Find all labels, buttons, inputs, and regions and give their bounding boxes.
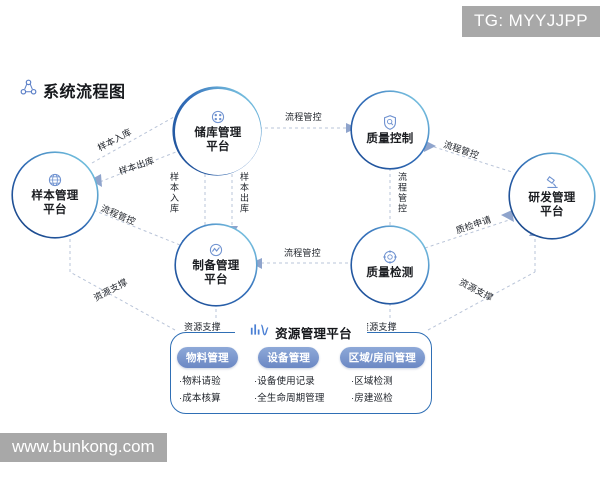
page-title-text: 系统流程图	[43, 78, 126, 102]
page-title: 系统流程图	[20, 78, 126, 102]
pill-equipment-management[interactable]: 设备管理	[258, 347, 319, 368]
node-preparation-management[interactable]: 制备管理平台	[176, 225, 256, 305]
microscope-icon	[544, 173, 561, 190]
list-item: ·区域检测	[351, 373, 423, 387]
edge-label-qtest-to-prep: 流程管控	[284, 246, 321, 259]
wave-chart-icon	[250, 322, 269, 342]
resource-columns: ·物料请验 ·成本核算 ·设备使用记录 ·全生命周期管理 ·区域检测 ·房建巡检	[171, 373, 431, 404]
edge-label-prep-in: 样本入库	[168, 172, 181, 214]
network-nodes-icon	[20, 79, 37, 101]
globe-grid-icon	[47, 172, 63, 188]
list-item: ·全生命周期管理	[254, 390, 350, 404]
column-area-room: ·区域检测 ·房建巡检	[351, 373, 423, 404]
edge-label-storage-to-qc: 流程管控	[285, 110, 322, 123]
node-quality-testing[interactable]: 质量检测	[352, 227, 428, 303]
tg-badge: TG: MYYJJPP	[462, 6, 600, 37]
pill-material-management[interactable]: 物料管理	[177, 347, 238, 368]
resource-management-panel: 资源管理平台 物料管理 设备管理 区域/房间管理 ·物料请验 ·成本核算 ·设备…	[170, 332, 432, 414]
node-label-sample: 样本管理平台	[31, 190, 78, 217]
list-item: ·物料请验	[179, 373, 253, 387]
node-label-qtest: 质量检测	[366, 267, 413, 281]
target-icon	[382, 249, 398, 265]
resource-panel-title: 资源管理平台	[275, 323, 352, 342]
pill-area-room-management[interactable]: 区域/房间管理	[340, 347, 425, 368]
list-item: ·设备使用记录	[254, 373, 350, 387]
node-label-qc: 质量控制	[366, 133, 413, 147]
chart-line-icon	[208, 242, 224, 258]
node-label-prep: 制备管理平台	[192, 260, 239, 287]
node-sample-management[interactable]: 样本管理平台	[13, 153, 97, 237]
shield-search-icon	[382, 114, 398, 131]
diagram-canvas: TG: MYYJJPP 系统流程图 样本管理平台	[0, 0, 600, 480]
edge-label-prep-out: 样本出库	[238, 172, 251, 214]
resource-panel-header: 资源管理平台	[235, 322, 367, 342]
list-item: ·房建巡检	[351, 390, 423, 404]
node-label-rd: 研发管理平台	[528, 192, 575, 219]
edge-label-qc-to-qtest: 流程管控	[396, 172, 409, 214]
site-watermark: www.bunkong.com	[0, 433, 167, 462]
column-material: ·物料请验 ·成本核算	[179, 373, 253, 404]
node-rd-management[interactable]: 研发管理平台	[510, 154, 594, 238]
node-quality-control[interactable]: 质量控制	[352, 92, 428, 168]
column-equipment: ·设备使用记录 ·全生命周期管理	[254, 373, 350, 404]
resource-pill-row: 物料管理 设备管理 区域/房间管理	[171, 347, 431, 368]
list-item: ·成本核算	[179, 390, 253, 404]
storage-dots-icon	[210, 109, 226, 125]
node-label-storage: 储库管理平台	[194, 127, 241, 154]
node-storage-management[interactable]: 储库管理平台	[175, 89, 261, 175]
